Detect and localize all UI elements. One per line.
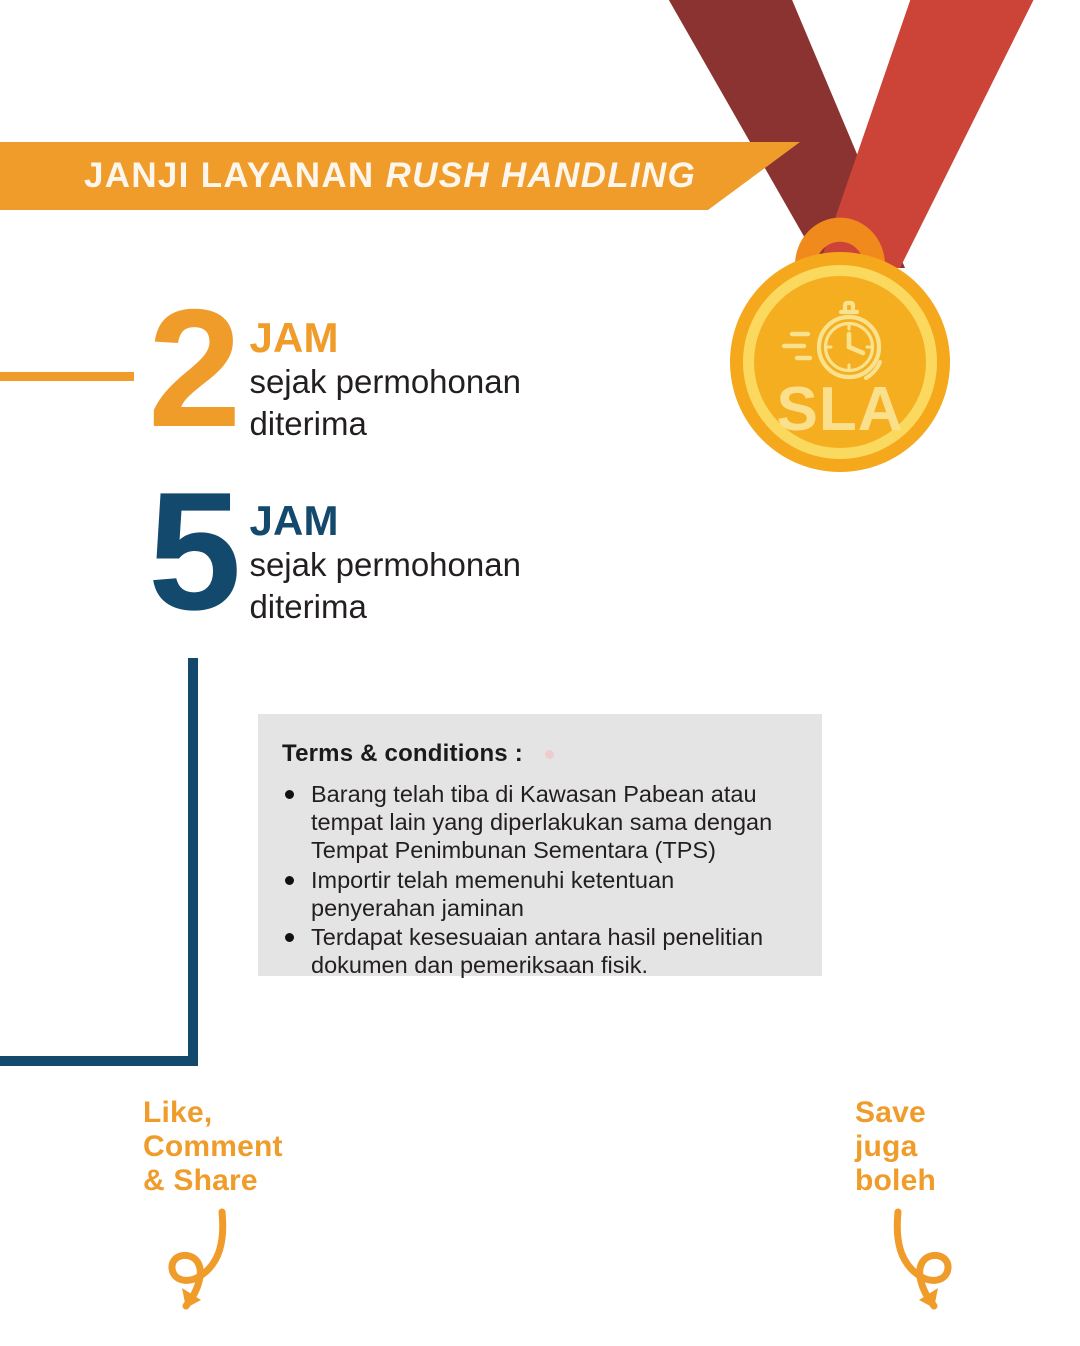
header-banner: JANJI LAYANAN RUSH HANDLING [0,142,800,210]
stat-description: sejak permohonan diterima [249,361,589,445]
terms-title-label: Terms & conditions : [282,740,523,767]
medal-clasp-icon [795,218,885,299]
ribbon-dark-icon [666,0,905,268]
stat-number: 5 [148,483,237,621]
ribbon-light-icon [818,0,1036,268]
terms-title: Terms & conditions : [282,740,554,768]
curly-arrow-down-icon [159,1208,249,1318]
stat-unit: JAM [249,317,589,359]
cta-save-juga-boleh: Save juga boleh [855,1096,961,1323]
cta-left-label: Like, Comment & Share [143,1096,283,1198]
terms-title-marker-dot [545,750,554,759]
stat-text-group: JAM sejak permohonan diterima [249,483,589,628]
stat-block-5-jam: 5 JAM sejak permohonan diterima [148,483,589,628]
cta-right-label: Save juga boleh [855,1096,961,1198]
list-item: Importir telah memenuhi ketentuan penyer… [282,866,792,922]
banner-title-plain: JANJI LAYANAN [84,156,386,195]
medal-inner-disc [754,276,926,448]
cta-like-comment-share: Like, Comment & Share [143,1096,283,1323]
page-title: JANJI LAYANAN RUSH HANDLING [84,156,696,196]
stat-unit: JAM [249,500,589,542]
medal-light-ring [743,265,937,459]
terms-and-conditions-box: Terms & conditions : Barang telah tiba d… [258,714,822,976]
curly-arrow-down-icon [871,1208,961,1318]
stat-text-group: JAM sejak permohonan diterima [249,300,589,445]
stat-description: sejak permohonan diterima [249,544,589,628]
stat-block-2-jam: 2 JAM sejak permohonan diterima [148,300,589,445]
stopwatch-icon [784,303,880,378]
list-item: Barang telah tiba di Kawasan Pabean atau… [282,780,792,865]
medal-outer-disc [730,252,950,472]
terms-list: Barang telah tiba di Kawasan Pabean atau… [282,780,792,979]
navy-bracket-horizontal [0,1056,198,1066]
infographic-poster: SLA JANJI LAYANAN RUSH HANDLING 2 JAM se… [0,0,1080,1346]
navy-bracket-vertical [188,658,198,1066]
medal-sla-label: SLA [777,375,904,444]
orange-connector-line [0,372,134,381]
stat-number: 2 [148,300,237,438]
banner-title-italic: RUSH HANDLING [386,156,697,195]
list-item: Terdapat kesesuaian antara hasil penelit… [282,923,792,979]
